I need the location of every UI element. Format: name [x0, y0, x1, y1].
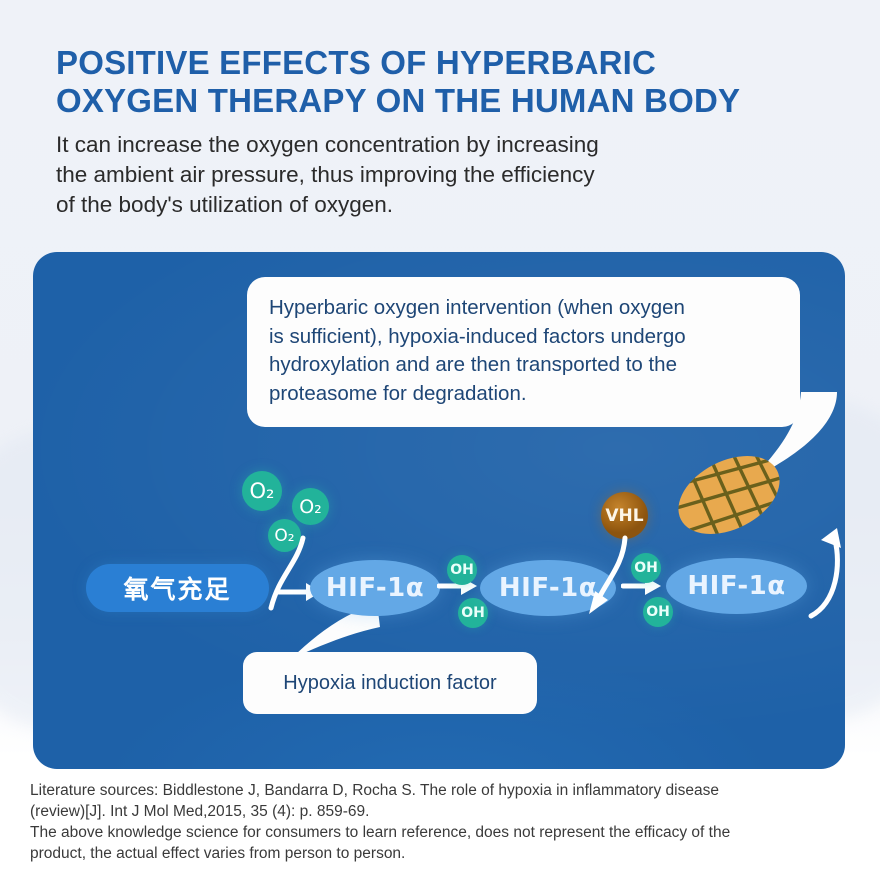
hif1a-node: HIF-1α [310, 560, 440, 616]
oxygen-molecule-icon: O₂ [268, 519, 301, 552]
sufficient-oxygen-label: 氧气充足 [123, 570, 231, 606]
hypoxia-callout: Hypoxia induction factor [243, 652, 537, 714]
hif1a-label: HIF-1α [687, 571, 785, 601]
hydroxyl-group-icon: OH [447, 555, 477, 585]
hif1a-label: HIF-1α [499, 573, 597, 603]
hif1a-node: HIF-1α [480, 560, 616, 616]
explanation-bubble: Hyperbaric oxygen intervention (when oxy… [247, 277, 800, 427]
oxygen-molecule-icon: O₂ [242, 471, 282, 511]
footer: Literature sources: Biddlestone J, Banda… [30, 780, 852, 864]
hydroxyl-group-icon: OH [631, 553, 661, 583]
page-subtitle: It can increase the oxygen concentration… [56, 130, 826, 220]
hif1a-node: HIF-1α [666, 558, 807, 614]
vhl-node: VHL [601, 492, 648, 539]
vhl-label: VHL [605, 506, 643, 526]
degradation-transport-arrow [793, 492, 845, 622]
header: POSITIVE EFFECTS OF HYPERBARIC OXYGEN TH… [56, 44, 826, 220]
oxygen-molecule-icon: O₂ [292, 488, 329, 525]
hif1a-label: HIF-1α [326, 573, 424, 603]
diagram-panel: Hyperbaric oxygen intervention (when oxy… [33, 252, 845, 769]
hypoxia-callout-text: Hypoxia induction factor [283, 672, 496, 695]
hydroxyl-group-icon: OH [458, 598, 488, 628]
proteasome-icon [671, 451, 787, 539]
footer-citation: Literature sources: Biddlestone J, Banda… [30, 780, 852, 822]
explanation-bubble-text: Hyperbaric oxygen intervention (when oxy… [269, 294, 778, 408]
page-title: POSITIVE EFFECTS OF HYPERBARIC OXYGEN TH… [56, 44, 826, 120]
infographic-page: POSITIVE EFFECTS OF HYPERBARIC OXYGEN TH… [0, 0, 880, 880]
hydroxyl-group-icon: OH [643, 597, 673, 627]
sufficient-oxygen-node: 氧气充足 [86, 564, 269, 612]
footer-disclaimer: The above knowledge science for consumer… [30, 822, 852, 864]
